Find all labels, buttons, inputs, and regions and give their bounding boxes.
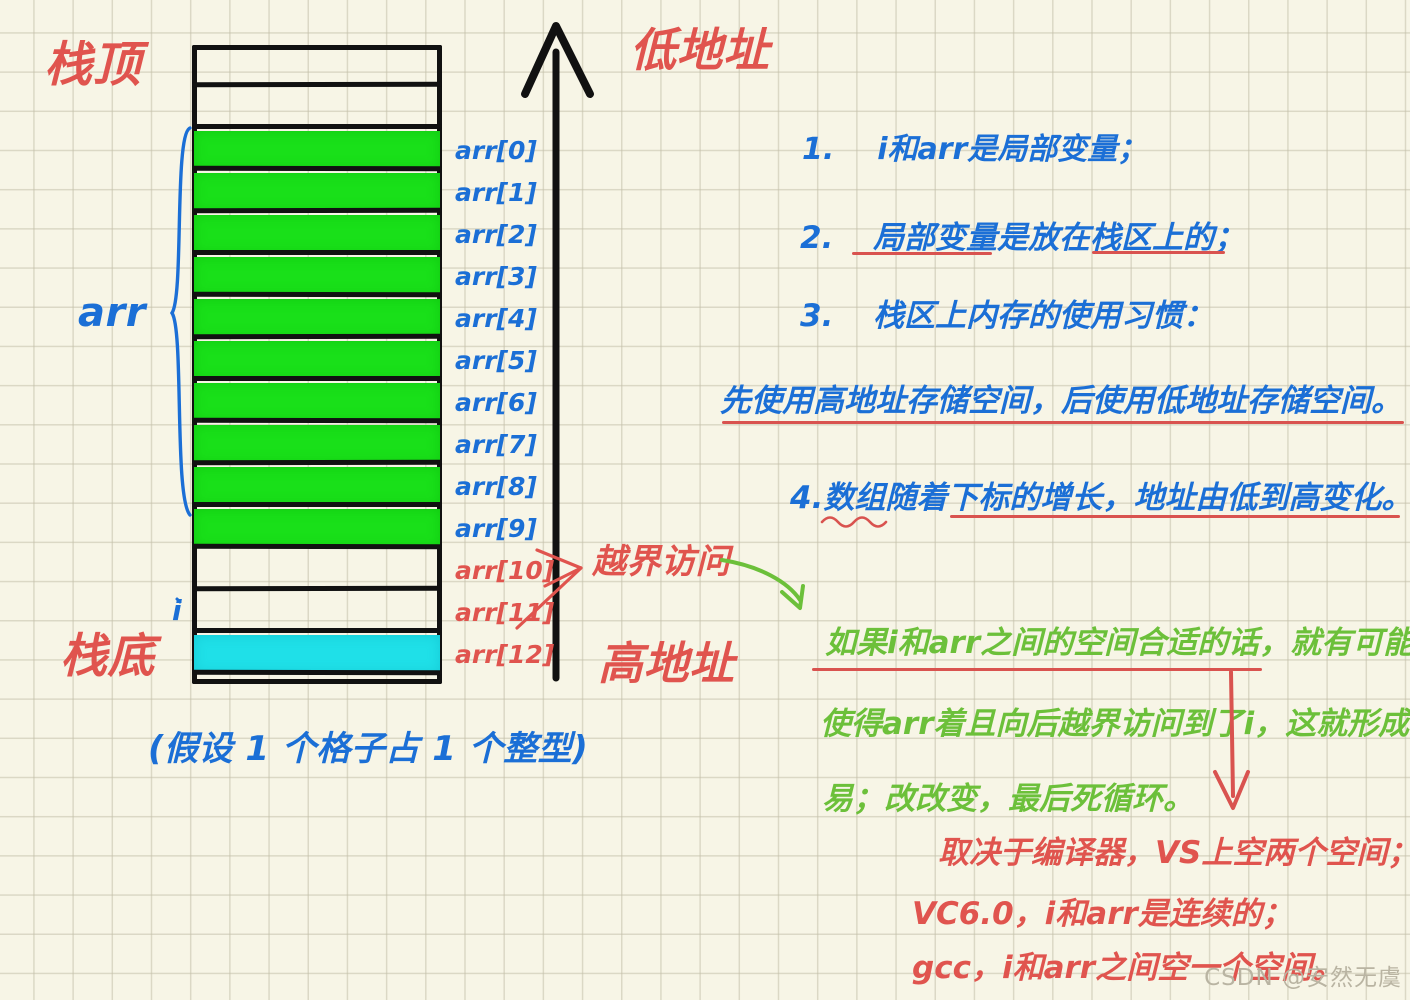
array-slot-fill <box>194 341 440 379</box>
stack-cell-index-label: arr[9] <box>455 514 537 543</box>
stack-cell <box>192 591 442 633</box>
high-address-label: 高地址 <box>598 640 735 687</box>
stack-cell-index-label: arr[6] <box>455 388 537 417</box>
stack-cell <box>192 381 442 423</box>
green-note-line-2: 使得arr着且向后越界访问到了i，这就形成变 <box>820 698 1410 743</box>
stack-cell-index-label: arr[7] <box>455 430 537 459</box>
stack-cell <box>192 255 442 297</box>
stack-cell <box>192 633 442 675</box>
variable-i-label: i <box>172 596 182 625</box>
stack-cell <box>192 129 442 171</box>
stack-cell-index-label: arr[11] <box>455 598 554 627</box>
array-brace-label: arr <box>78 292 146 334</box>
stack-cell <box>192 507 442 549</box>
stack-cell <box>192 339 442 381</box>
stack-cell-index-label: arr[10] <box>455 556 554 585</box>
stack-cell <box>192 45 442 87</box>
green-note-line-1: 如果i和arr之间的空间合适的话，就有可能 <box>825 617 1410 662</box>
memory-habit-underline <box>722 421 1404 424</box>
stack-memory-box <box>192 45 442 684</box>
stack-cell <box>192 171 442 213</box>
stack-cell <box>192 675 442 717</box>
stack-cell-index-label: arr[1] <box>455 178 537 207</box>
array-slot-fill <box>194 425 440 463</box>
stack-bottom-label: 栈底 <box>60 632 155 681</box>
note-2-underline-b <box>1092 251 1225 254</box>
note-2-underline-a <box>852 252 992 255</box>
stack-cell-index-label: arr[2] <box>455 220 537 249</box>
note-3: 3. 栈区上内存的使用习惯： <box>800 290 1214 335</box>
low-address-label: 低地址 <box>630 26 770 74</box>
stack-cell <box>192 465 442 507</box>
stack-top-label: 栈顶 <box>44 40 141 90</box>
diagram-caption: (假设 1 个格子占 1 个整型) <box>148 732 588 768</box>
note-1: 1. i和arr是局部变量； <box>802 124 1147 168</box>
green-curved-arrow <box>700 548 830 628</box>
stack-cell-index-label: arr[5] <box>455 346 537 375</box>
array-slot-fill <box>194 299 440 337</box>
array-slot-fill <box>194 215 440 253</box>
note-3-number: 3. <box>800 298 833 334</box>
array-slot-fill <box>194 257 440 295</box>
green-note-underline <box>812 668 1262 671</box>
stack-cell-index-label: arr[12] <box>455 640 554 669</box>
stack-cell <box>192 297 442 339</box>
stack-cell-index-label: arr[0] <box>455 136 537 165</box>
handwritten-diagram-canvas: 栈顶 栈底 arr i 低地址 高地址 越界访问 (假设 1 个格子占 1 个整… <box>0 0 1410 1000</box>
variable-i-slot-fill <box>194 635 440 673</box>
stack-cell <box>192 423 442 465</box>
csdn-watermark: CSDN @安然无虞 <box>1204 958 1402 992</box>
stack-cell-index-label: arr[4] <box>455 304 537 333</box>
memory-habit-line: 先使用高地址存储空间，后使用低地址存储空间。 <box>720 375 1402 420</box>
note-3-text: 栈区上内存的使用习惯： <box>873 298 1214 334</box>
array-slot-fill <box>194 131 440 169</box>
array-slot-fill <box>194 509 440 547</box>
note-4-underline <box>950 515 1400 518</box>
red-note-line-1: 取决于编译器，VS上空两个空间； <box>938 827 1410 872</box>
note-2-number: 2. <box>800 220 833 256</box>
stack-cell-index-label: arr[3] <box>455 262 537 291</box>
note-1-number: 1. <box>802 132 834 167</box>
stack-cell <box>192 87 442 129</box>
stack-cell <box>192 213 442 255</box>
note-1-text: i和arr是局部变量； <box>877 132 1147 167</box>
note-4-squiggle <box>820 512 890 528</box>
array-slot-fill <box>194 467 440 505</box>
array-slot-fill <box>194 173 440 211</box>
red-note-line-2: VC6.0，i和arr是连续的； <box>912 888 1293 933</box>
green-note-line-3: 易；改改变，最后死循环。 <box>822 773 1194 818</box>
red-down-arrow <box>1205 668 1265 818</box>
array-slot-fill <box>194 383 440 421</box>
note-4: 4.数组随着下标的增长，地址由低到高变化。 <box>790 472 1410 517</box>
stack-cell-index-label: arr[8] <box>455 472 537 501</box>
stack-cell <box>192 549 442 591</box>
